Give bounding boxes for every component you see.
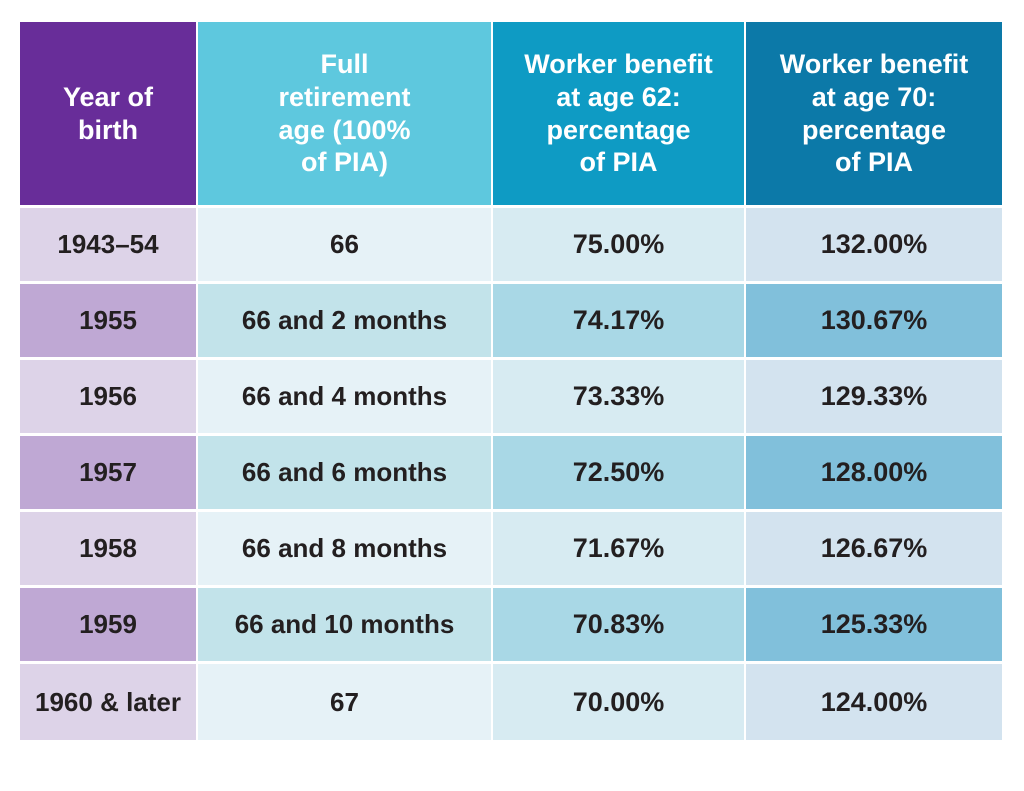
table-row: 1943–54 66 75.00% 132.00% bbox=[20, 208, 1002, 284]
cell-full-retirement-age: 66 bbox=[198, 208, 493, 284]
cell-benefit-at-70: 124.00% bbox=[746, 664, 1002, 740]
cell-benefit-at-70: 125.33% bbox=[746, 588, 1002, 664]
cell-benefit-at-62: 75.00% bbox=[493, 208, 746, 284]
header-row: Year ofbirth Fullretirementage (100%of P… bbox=[20, 22, 1002, 208]
cell-benefit-at-62: 73.33% bbox=[493, 360, 746, 436]
cell-year-of-birth: 1957 bbox=[20, 436, 198, 512]
table-row: 1956 66 and 4 months 73.33% 129.33% bbox=[20, 360, 1002, 436]
table-row: 1959 66 and 10 months 70.83% 125.33% bbox=[20, 588, 1002, 664]
benefits-table-container: Year ofbirth Fullretirementage (100%of P… bbox=[20, 22, 1002, 766]
cell-year-of-birth: 1955 bbox=[20, 284, 198, 360]
cell-benefit-at-62: 72.50% bbox=[493, 436, 746, 512]
cell-year-of-birth: 1960 & later bbox=[20, 664, 198, 740]
cell-year-of-birth: 1958 bbox=[20, 512, 198, 588]
cell-benefit-at-70: 128.00% bbox=[746, 436, 1002, 512]
column-header-year-of-birth: Year ofbirth bbox=[20, 22, 198, 208]
cell-full-retirement-age: 66 and 6 months bbox=[198, 436, 493, 512]
cell-full-retirement-age: 66 and 4 months bbox=[198, 360, 493, 436]
cell-full-retirement-age: 66 and 8 months bbox=[198, 512, 493, 588]
table-row: 1957 66 and 6 months 72.50% 128.00% bbox=[20, 436, 1002, 512]
cell-year-of-birth: 1959 bbox=[20, 588, 198, 664]
cell-benefit-at-62: 70.00% bbox=[493, 664, 746, 740]
column-header-full-retirement-age: Fullretirementage (100%of PIA) bbox=[198, 22, 493, 208]
column-header-benefit-at-70: Worker benefitat age 70:percentageof PIA bbox=[746, 22, 1002, 208]
cell-year-of-birth: 1956 bbox=[20, 360, 198, 436]
cell-benefit-at-62: 71.67% bbox=[493, 512, 746, 588]
table-row: 1955 66 and 2 months 74.17% 130.67% bbox=[20, 284, 1002, 360]
cell-benefit-at-70: 130.67% bbox=[746, 284, 1002, 360]
cell-full-retirement-age: 67 bbox=[198, 664, 493, 740]
social-security-benefits-table: Year ofbirth Fullretirementage (100%of P… bbox=[20, 22, 1002, 740]
cell-benefit-at-62: 70.83% bbox=[493, 588, 746, 664]
cell-benefit-at-70: 129.33% bbox=[746, 360, 1002, 436]
cell-benefit-at-70: 126.67% bbox=[746, 512, 1002, 588]
table-row: 1958 66 and 8 months 71.67% 126.67% bbox=[20, 512, 1002, 588]
cell-year-of-birth: 1943–54 bbox=[20, 208, 198, 284]
cell-full-retirement-age: 66 and 2 months bbox=[198, 284, 493, 360]
cell-benefit-at-62: 74.17% bbox=[493, 284, 746, 360]
cell-full-retirement-age: 66 and 10 months bbox=[198, 588, 493, 664]
table-row: 1960 & later 67 70.00% 124.00% bbox=[20, 664, 1002, 740]
cell-benefit-at-70: 132.00% bbox=[746, 208, 1002, 284]
table-header: Year ofbirth Fullretirementage (100%of P… bbox=[20, 22, 1002, 208]
column-header-benefit-at-62: Worker benefitat age 62:percentageof PIA bbox=[493, 22, 746, 208]
table-body: 1943–54 66 75.00% 132.00% 1955 66 and 2 … bbox=[20, 208, 1002, 740]
